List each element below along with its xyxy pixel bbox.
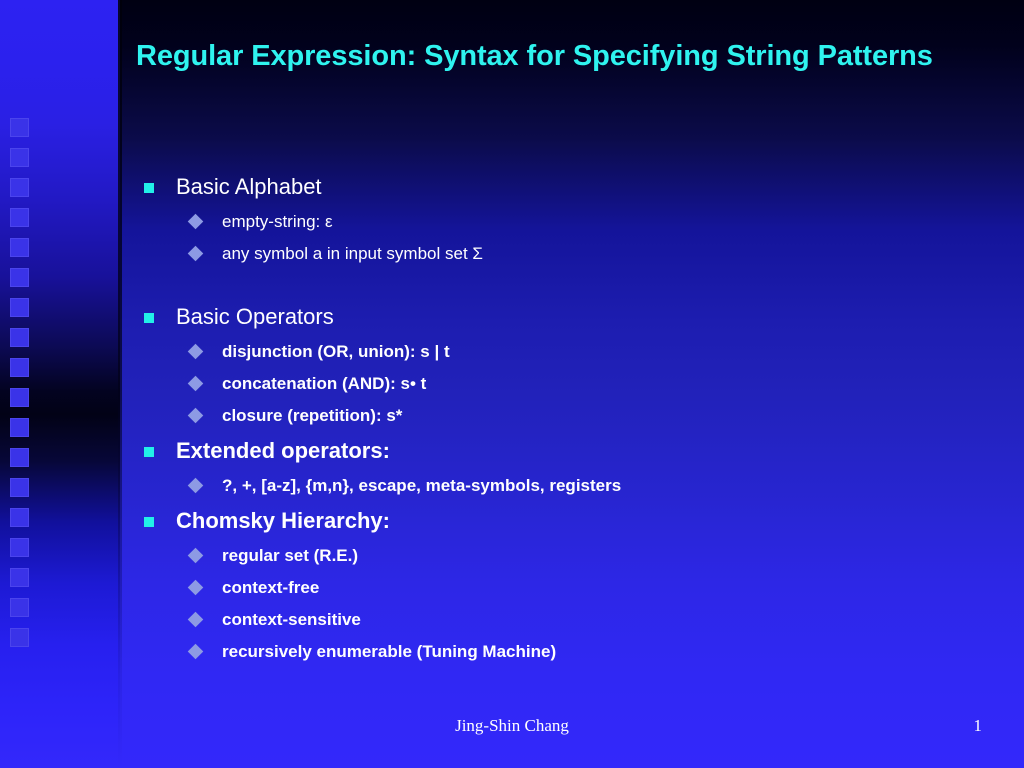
bullet-level2-label: closure (repetition): s*: [222, 400, 402, 432]
sidebar-square: [10, 268, 29, 287]
sidebar-square: [10, 118, 29, 137]
bullet-level2-label: concatenation (AND): s• t: [222, 368, 426, 400]
bullet-level1: Basic Operators: [140, 298, 1000, 336]
sidebar-square-strip: [10, 118, 30, 658]
diamond-bullet-icon: [188, 214, 204, 230]
section-spacer: [140, 276, 1000, 298]
bullet-level2-label: recursively enumerable (Tuning Machine): [222, 636, 556, 668]
bullet-level2: empty-string: ε: [140, 206, 1000, 238]
diamond-bullet-icon: [188, 548, 204, 564]
bullet-level1-label: Basic Operators: [176, 298, 334, 336]
bullet-level2-label: regular set (R.E.): [222, 540, 358, 572]
sidebar-square: [10, 328, 29, 347]
bullet-level2: regular set (R.E.): [140, 540, 1000, 572]
bullet-level1: Basic Alphabet: [140, 168, 1000, 206]
bullet-level2: context-sensitive: [140, 604, 1000, 636]
sidebar-edge-shadow: [118, 0, 122, 768]
square-bullet-icon: [144, 313, 154, 323]
sidebar-square: [10, 358, 29, 377]
diamond-bullet-icon: [188, 344, 204, 360]
content-list: Basic Alphabetempty-string: εany symbol …: [140, 168, 1000, 668]
bullet-level1-label: Basic Alphabet: [176, 168, 322, 206]
bullet-level2-label: context-free: [222, 572, 319, 604]
bullet-level1: Extended operators:: [140, 432, 1000, 470]
page-title: Regular Expression: Syntax for Specifyin…: [136, 38, 966, 74]
square-bullet-icon: [144, 517, 154, 527]
diamond-bullet-icon: [188, 580, 204, 596]
footer-page-number: 1: [974, 716, 983, 736]
bullet-level2: context-free: [140, 572, 1000, 604]
bullet-level2: closure (repetition): s*: [140, 400, 1000, 432]
diamond-bullet-icon: [188, 246, 204, 262]
footer-author: Jing-Shin Chang: [0, 716, 1024, 736]
diamond-bullet-icon: [188, 408, 204, 424]
sidebar-square: [10, 238, 29, 257]
square-bullet-icon: [144, 447, 154, 457]
sidebar-square: [10, 508, 29, 527]
square-bullet-icon: [144, 183, 154, 193]
bullet-level2-label: disjunction (OR, union): s | t: [222, 336, 450, 368]
bullet-level2-label: empty-string: ε: [222, 206, 333, 238]
sidebar-square: [10, 538, 29, 557]
bullet-level2: recursively enumerable (Tuning Machine): [140, 636, 1000, 668]
bullet-level1: Chomsky Hierarchy:: [140, 502, 1000, 540]
slide: Regular Expression: Syntax for Specifyin…: [0, 0, 1024, 768]
bullet-level1-label: Chomsky Hierarchy:: [176, 502, 390, 540]
sidebar-square: [10, 418, 29, 437]
diamond-bullet-icon: [188, 376, 204, 392]
sidebar-square: [10, 178, 29, 197]
bullet-level2: concatenation (AND): s• t: [140, 368, 1000, 400]
sidebar-square: [10, 388, 29, 407]
sidebar-square: [10, 628, 29, 647]
sidebar-square: [10, 568, 29, 587]
bullet-level2: disjunction (OR, union): s | t: [140, 336, 1000, 368]
sidebar-square: [10, 208, 29, 227]
sidebar-square: [10, 448, 29, 467]
bullet-level2-label: ?, +, [a-z], {m,n}, escape, meta-symbols…: [222, 470, 621, 502]
sidebar-square: [10, 148, 29, 167]
sidebar-square: [10, 598, 29, 617]
bullet-level2: any symbol a in input symbol set Σ: [140, 238, 1000, 270]
bullet-level2-label: context-sensitive: [222, 604, 361, 636]
bullet-level2: ?, +, [a-z], {m,n}, escape, meta-symbols…: [140, 470, 1000, 502]
diamond-bullet-icon: [188, 644, 204, 660]
sidebar-square: [10, 298, 29, 317]
bullet-level1-label: Extended operators:: [176, 432, 390, 470]
diamond-bullet-icon: [188, 612, 204, 628]
sidebar-square: [10, 478, 29, 497]
diamond-bullet-icon: [188, 478, 204, 494]
bullet-level2-label: any symbol a in input symbol set Σ: [222, 238, 483, 270]
